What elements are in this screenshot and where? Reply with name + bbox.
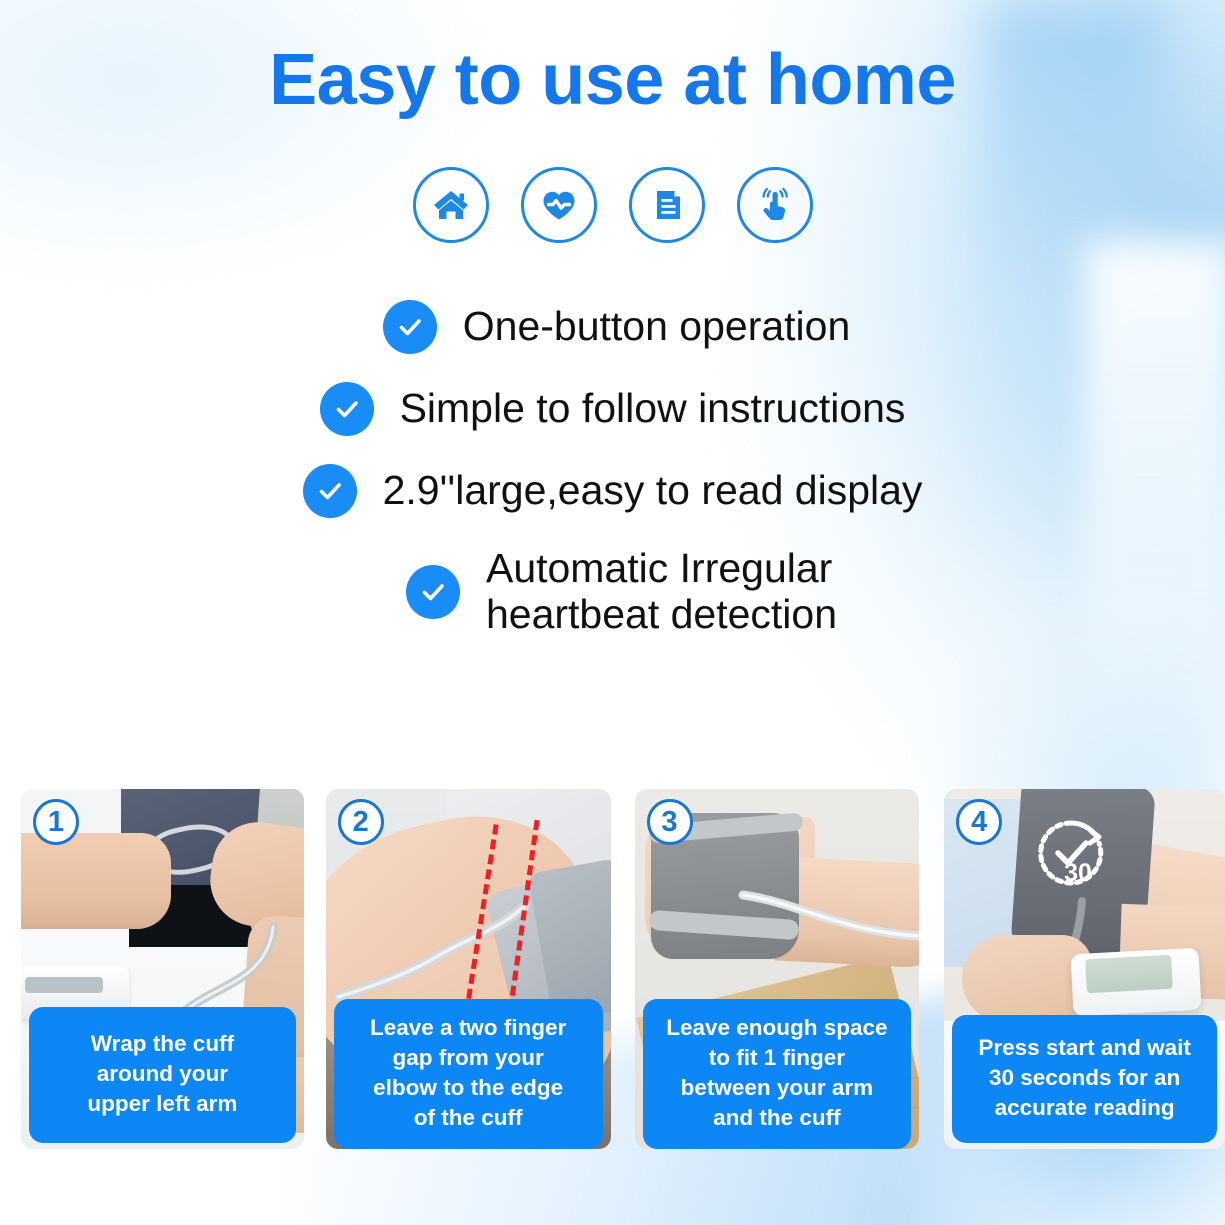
home-icon <box>413 167 489 243</box>
step-number-badge: 2 <box>338 799 384 845</box>
tap-gesture-icon <box>737 167 813 243</box>
page-title: Easy to use at home <box>0 44 1225 116</box>
check-icon <box>303 464 357 518</box>
step-number-badge: 3 <box>647 799 693 845</box>
feature-icon-row <box>0 167 1225 243</box>
step-number-badge: 4 <box>956 799 1002 845</box>
step-panel-1: 1 Wrap the cuff around your upper left a… <box>21 789 304 1149</box>
step-caption: Wrap the cuff around your upper left arm <box>29 1007 296 1143</box>
checklist-item: One-button operation <box>0 300 1225 354</box>
heart-pulse-icon <box>521 167 597 243</box>
svg-text:30: 30 <box>1064 859 1092 887</box>
checklist-item-label: 2.9''large,easy to read display <box>383 468 923 514</box>
checklist-item-label: One-button operation <box>463 304 851 350</box>
checklist-item-label: Simple to follow instructions <box>400 386 906 432</box>
feature-checklist: One-button operation Simple to follow in… <box>0 300 1225 638</box>
document-icon <box>629 167 705 243</box>
checklist-item: Automatic Irregular heartbeat detection <box>0 546 1225 638</box>
step-number-badge: 1 <box>33 799 79 845</box>
step-panel-4: 30 4 Press start and wait 30 seconds for… <box>944 789 1225 1149</box>
checklist-item-label: Automatic Irregular heartbeat detection <box>486 546 837 638</box>
checklist-item: Simple to follow instructions <box>0 382 1225 436</box>
check-icon <box>320 382 374 436</box>
step-caption: Leave a two finger gap from your elbow t… <box>334 999 603 1149</box>
step-panel-2: 2 Leave a two finger gap from your elbow… <box>326 789 611 1149</box>
step-panel-row: 1 Wrap the cuff around your upper left a… <box>0 789 1225 1149</box>
infographic-page: Easy to use at home <box>0 0 1225 1225</box>
check-icon <box>406 565 460 619</box>
timer-30-icon: 30 <box>1028 811 1114 897</box>
check-icon <box>383 300 437 354</box>
step-panel-3: 3 Leave enough space to fit 1 finger bet… <box>635 789 920 1149</box>
step-caption: Leave enough space to fit 1 finger betwe… <box>643 999 912 1149</box>
step-caption: Press start and wait 30 seconds for an a… <box>952 1015 1217 1143</box>
checklist-item: 2.9''large,easy to read display <box>0 464 1225 518</box>
